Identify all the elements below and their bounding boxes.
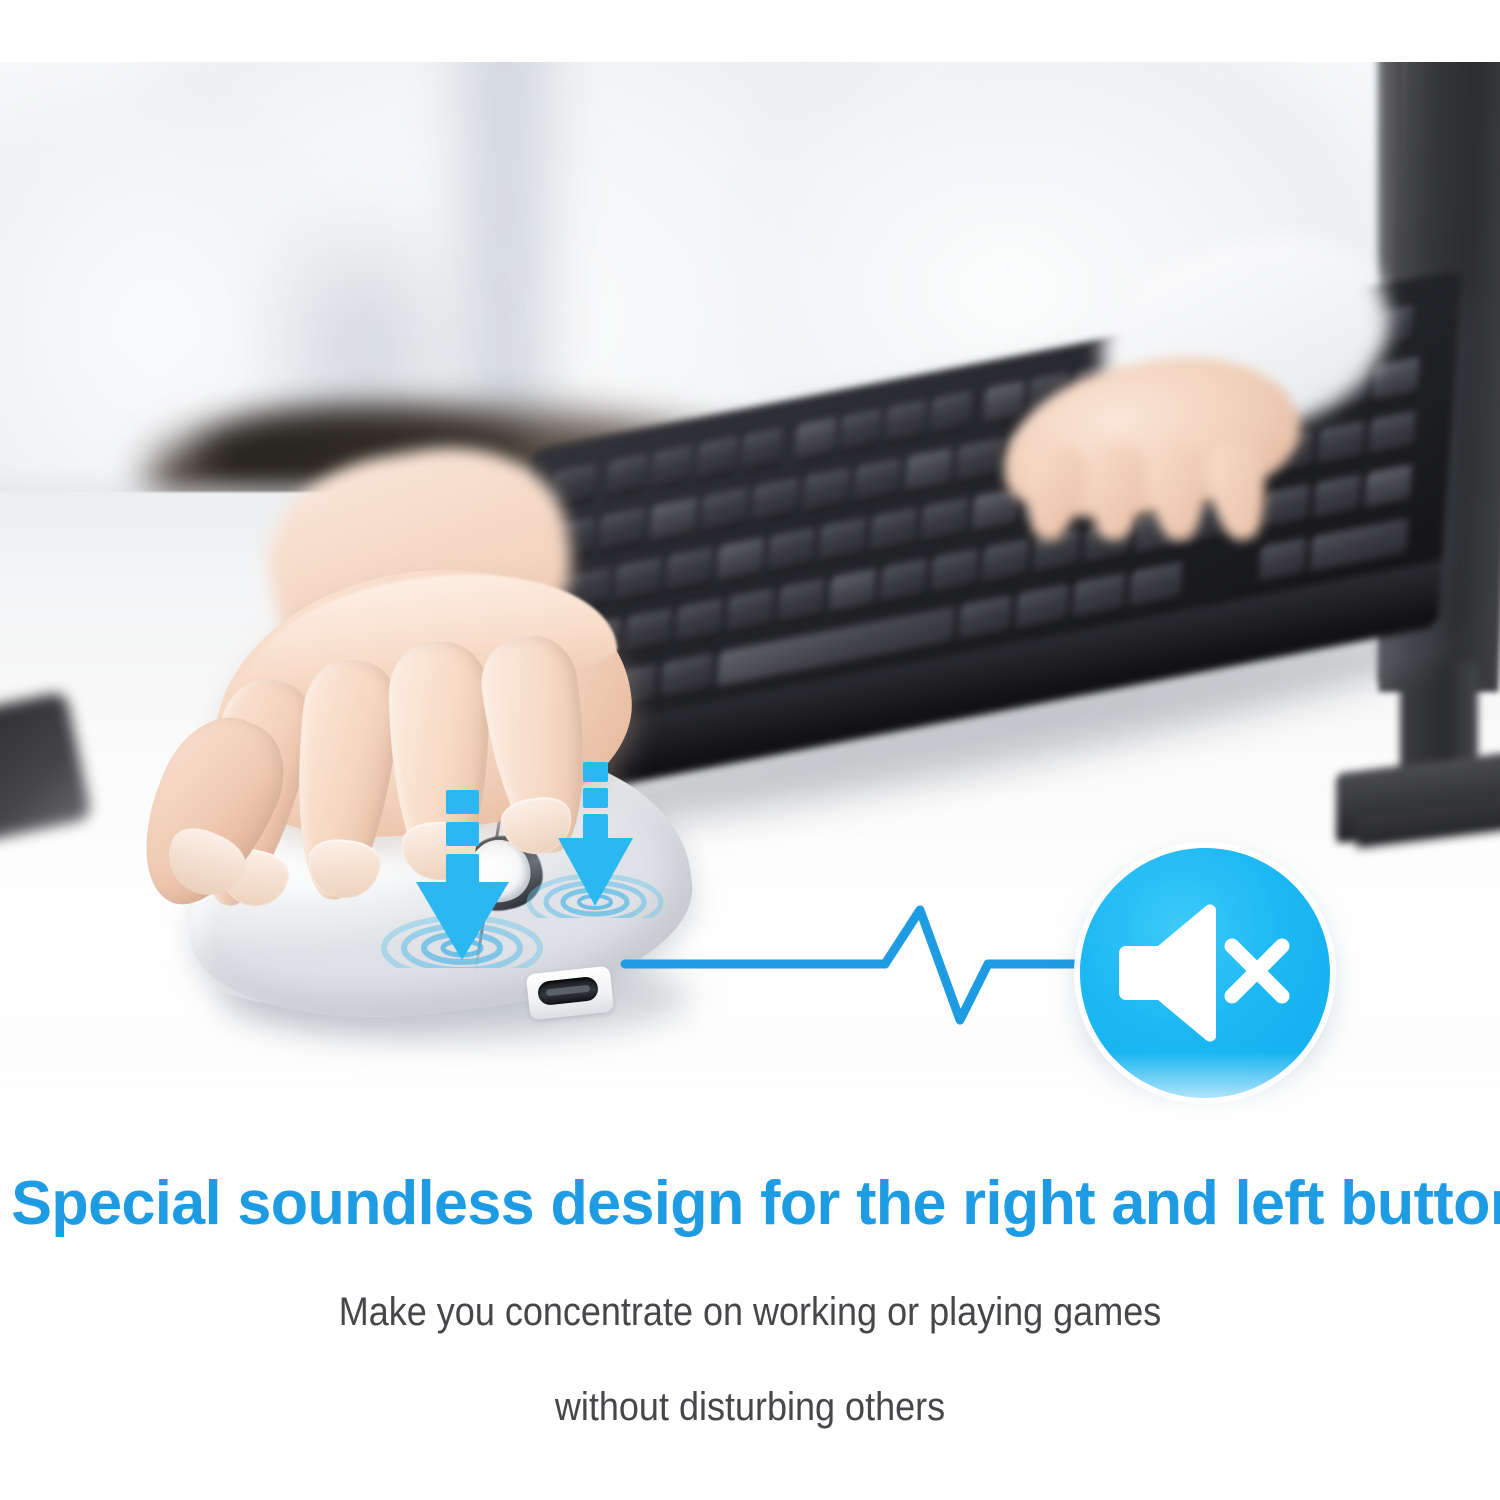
- right-finger-3: [1148, 443, 1207, 541]
- right-finger-2: [1085, 442, 1148, 542]
- page-headline: Special soundless design for the right a…: [11, 1168, 1489, 1239]
- right-hand-typing: [1000, 362, 1330, 542]
- product-feature-image: Special soundless design for the right a…: [0, 0, 1500, 1500]
- lifestyle-photo: [0, 62, 1500, 1122]
- photo-bottom-fade: [0, 1052, 1500, 1122]
- silent-pulse-line: [600, 872, 1120, 1062]
- subtitle-line-1: Make you concentrate on working or playi…: [75, 1290, 1425, 1335]
- subtitle-line-2: without disturbing others: [75, 1385, 1425, 1430]
